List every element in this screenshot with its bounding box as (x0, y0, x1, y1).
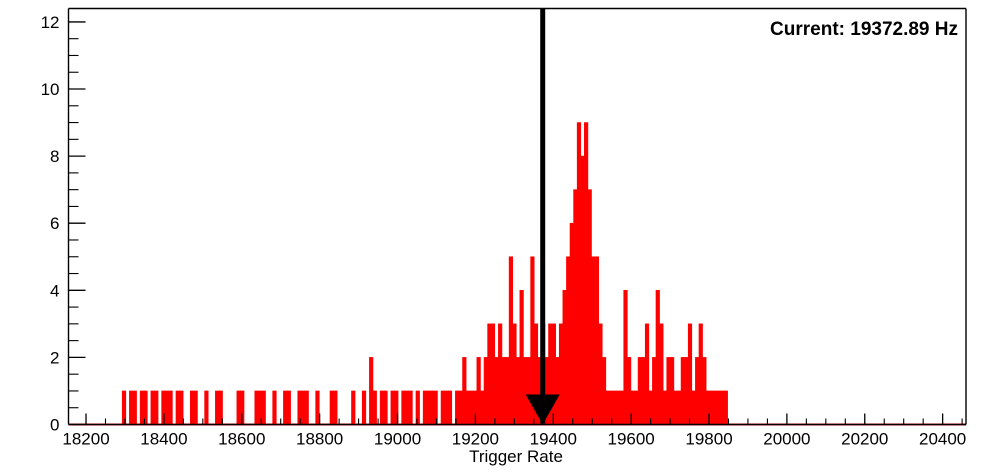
histogram-bar (645, 324, 649, 425)
histogram-bar (677, 391, 681, 425)
histogram-bar (498, 324, 502, 425)
histogram-bar (606, 391, 610, 425)
histogram-bar (602, 357, 606, 424)
histogram-bar (556, 357, 560, 424)
y-tick-label: 4 (50, 281, 59, 300)
histogram-bar (685, 357, 689, 424)
histogram-bar (287, 391, 291, 425)
histogram-bar (402, 391, 406, 425)
histogram-bar (695, 357, 699, 424)
histogram-bar (169, 391, 173, 425)
histogram-bar (717, 391, 721, 425)
histogram-bar (176, 391, 180, 425)
histogram-bar (502, 357, 506, 424)
histogram-bar (427, 391, 431, 425)
histogram-bar (480, 391, 484, 425)
histogram-bar (509, 257, 513, 425)
histogram-bar (140, 391, 144, 425)
x-tick-label: 18200 (62, 430, 109, 449)
histogram-bar (205, 391, 209, 425)
histogram-bar (409, 391, 413, 425)
histogram-bar (466, 391, 470, 425)
histogram-bar (441, 391, 445, 425)
x-tick-label: 19000 (374, 430, 421, 449)
histogram-bar (484, 357, 488, 424)
histogram-bar (559, 324, 563, 425)
histogram-bar (595, 257, 599, 425)
histogram-bar (692, 391, 696, 425)
y-tick-label: 6 (50, 214, 59, 233)
histogram-bar (334, 391, 338, 425)
trigger-rate-histogram: 1820018400186001880019000192001940019600… (0, 0, 996, 472)
histogram-bar (373, 391, 377, 425)
histogram-bar (552, 324, 556, 425)
histogram-bar (566, 257, 570, 425)
histogram-bar (506, 357, 510, 424)
y-tick-label: 12 (41, 13, 60, 32)
histogram-bar (703, 357, 707, 424)
x-tick-label: 20200 (841, 430, 888, 449)
histogram-bar (656, 290, 660, 424)
histogram-bar (495, 357, 499, 424)
y-tick-label: 10 (41, 80, 60, 99)
histogram-bar (523, 357, 527, 424)
histogram-bar (710, 391, 714, 425)
x-tick-label: 19200 (452, 430, 499, 449)
histogram-bar (380, 391, 384, 425)
histogram-bar (351, 391, 355, 425)
root-canvas: 1820018400186001880019000192001940019600… (0, 0, 996, 472)
histogram-bar (405, 391, 409, 425)
histogram-bar (627, 357, 631, 424)
histogram-bar (724, 391, 728, 425)
histogram-bar (584, 123, 588, 425)
histogram-bar (491, 324, 495, 425)
histogram-bar (237, 391, 241, 425)
histogram-bar (488, 324, 492, 425)
histogram-bar (574, 190, 578, 425)
histogram-bar (463, 357, 467, 424)
histogram-bar (445, 391, 449, 425)
histogram-bar (613, 391, 617, 425)
histogram-bar (477, 357, 481, 424)
histogram-bar (624, 290, 628, 424)
histogram-bar (520, 290, 524, 424)
x-tick-label: 19600 (607, 430, 654, 449)
histogram-bar (180, 391, 184, 425)
histogram-bar (660, 324, 664, 425)
histogram-bar (527, 357, 531, 424)
histogram-bar (592, 257, 596, 425)
histogram-bar (642, 357, 646, 424)
y-tick-label: 8 (50, 147, 59, 166)
histogram-bar (588, 190, 592, 425)
histogram-bar (283, 391, 287, 425)
histogram-bar (581, 156, 585, 424)
histogram-bar (663, 391, 667, 425)
histogram-bar (670, 357, 674, 424)
histogram-bar (699, 324, 703, 425)
x-tick-label: 18400 (140, 430, 187, 449)
histogram-bar (681, 357, 685, 424)
histogram-bar (262, 391, 266, 425)
histogram-bar (330, 391, 334, 425)
histogram-bar (599, 324, 603, 425)
histogram-bar (369, 357, 373, 424)
x-tick-label: 18800 (296, 430, 343, 449)
histogram-bar (448, 391, 452, 425)
histogram-bar (154, 391, 158, 425)
histogram-bar (713, 391, 717, 425)
histogram-bar (720, 391, 724, 425)
x-tick-label: 20400 (919, 430, 966, 449)
histogram-bar (273, 391, 277, 425)
histogram-bar (298, 391, 302, 425)
histogram-bar (688, 324, 692, 425)
histogram-bar (667, 357, 671, 424)
x-axis-title: Trigger Rate (469, 447, 563, 466)
x-tick-label: 18600 (218, 430, 265, 449)
histogram-bar (305, 391, 309, 425)
histogram-bar (255, 391, 259, 425)
histogram-bar (430, 391, 434, 425)
histogram-bar (634, 391, 638, 425)
histogram-bar (620, 391, 624, 425)
histogram-bar (652, 357, 656, 424)
histogram-bar (391, 391, 395, 425)
histogram-bar (563, 290, 567, 424)
histogram-bar (384, 391, 388, 425)
histogram-bar (513, 324, 517, 425)
histogram-bar (570, 223, 574, 424)
histogram-bar (638, 357, 642, 424)
histogram-bar (151, 391, 155, 425)
histogram-bar (316, 391, 320, 425)
x-tick-label: 19800 (685, 430, 732, 449)
current-rate-readout: Current: 19372.89 Hz (770, 19, 958, 40)
histogram-bar (674, 391, 678, 425)
histogram-bar (215, 391, 219, 425)
histogram-bar (617, 391, 621, 425)
histogram-bar (470, 391, 474, 425)
histogram-bar (423, 391, 427, 425)
histogram-bar (362, 391, 366, 425)
y-tick-label: 2 (50, 348, 59, 367)
y-tick-label: 0 (50, 416, 59, 435)
histogram-bar (129, 391, 133, 425)
histogram-bar (301, 391, 305, 425)
x-tick-label: 20000 (763, 430, 810, 449)
histogram-bar (165, 391, 169, 425)
histogram-bar (459, 391, 463, 425)
histogram-bar (194, 391, 198, 425)
histogram-bar (133, 391, 137, 425)
x-tick-label: 19400 (530, 430, 577, 449)
histogram-bar (516, 357, 520, 424)
histogram-bar (190, 391, 194, 425)
histogram-bar (577, 123, 581, 425)
